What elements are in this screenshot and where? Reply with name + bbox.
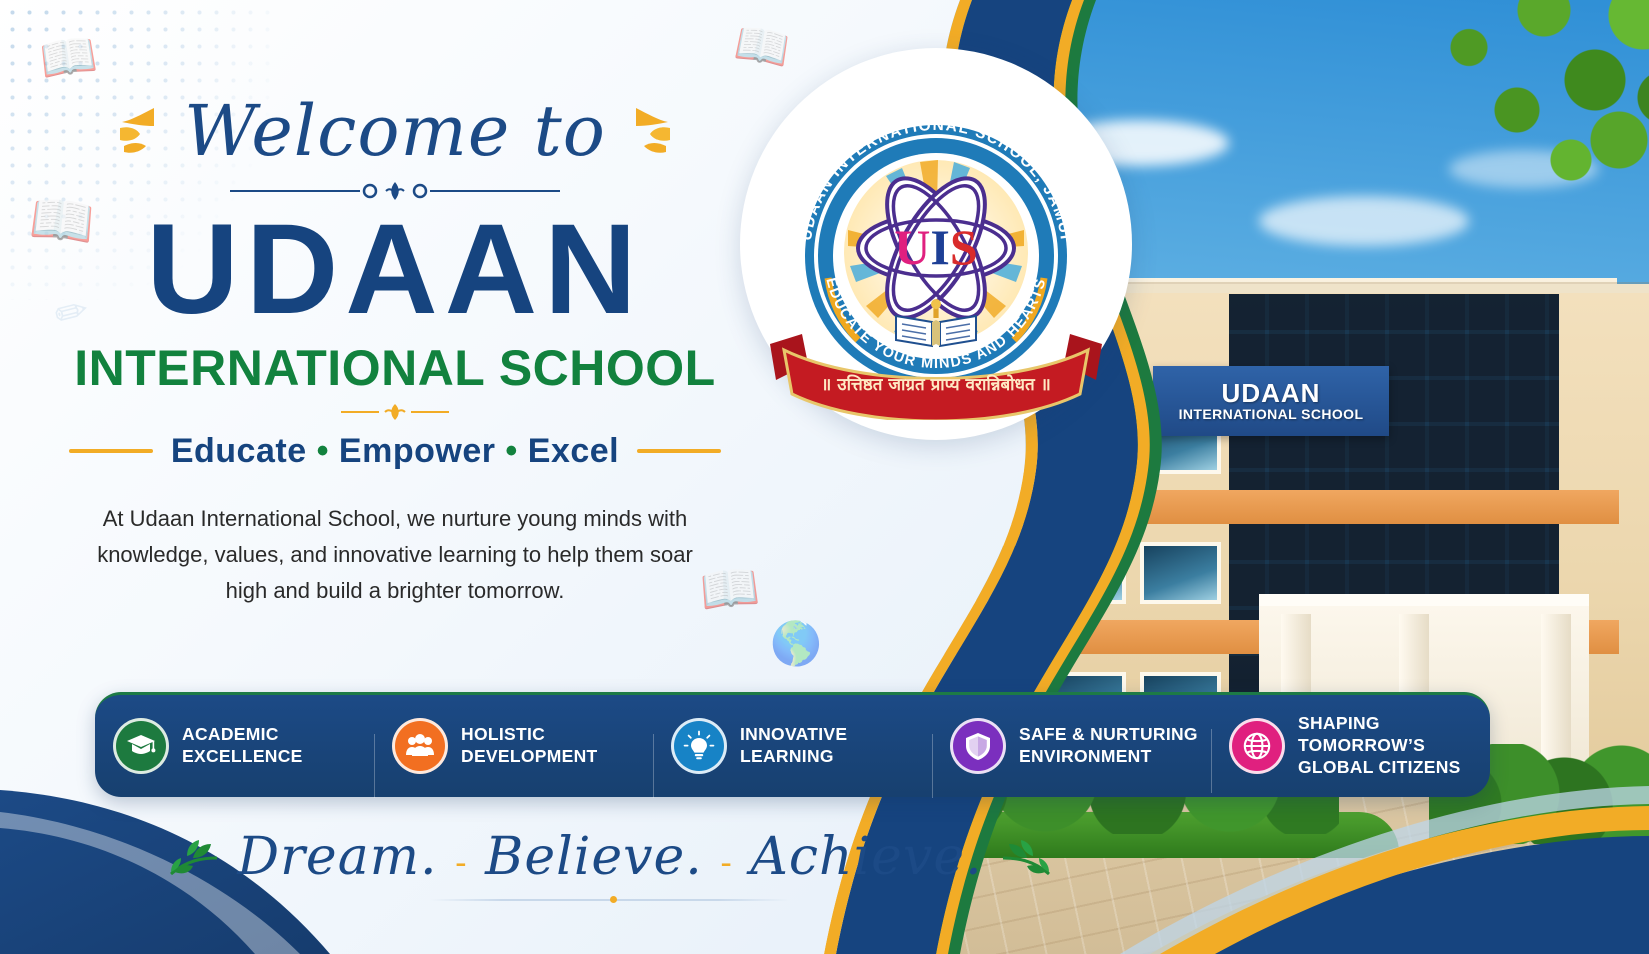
- building-signboard: UDAAN INTERNATIONAL SCHOOL: [1153, 366, 1389, 436]
- welcome-row: Welcome to: [60, 96, 730, 166]
- welcome-text: Welcome to: [184, 96, 606, 166]
- feature-label-line1: SAFE & NURTURING: [1019, 724, 1198, 746]
- orange-splash-left-icon: [114, 102, 158, 160]
- tagline-row: Educate • Empower • Excel: [60, 432, 730, 471]
- feature-label: ACADEMIC EXCELLENCE: [182, 724, 303, 768]
- tagline-dash-right: [637, 449, 721, 453]
- facade-band: [929, 490, 1619, 524]
- feature-label-line1: INNOVATIVE: [740, 724, 847, 746]
- tagline-separator-2: •: [505, 432, 517, 470]
- graduation-cap-icon: [113, 718, 169, 774]
- feature-label-line1: SHAPING TOMORROW’S: [1298, 713, 1480, 757]
- feature-academic-excellence[interactable]: ACADEMIC EXCELLENCE: [95, 718, 374, 774]
- tagline-dash-left: [69, 449, 153, 453]
- globe-icon: [1229, 718, 1285, 774]
- people-group-icon: [392, 718, 448, 774]
- feature-holistic-development[interactable]: HOLISTIC DEVELOPMENT: [374, 718, 653, 774]
- school-name-primary: UDAAN: [60, 209, 730, 331]
- crest-ribbon-text: ॥ उत्तिष्ठत जाग्रत प्राप्य वरान्निबोधत ॥: [821, 374, 1051, 395]
- feature-label-line2: ENVIRONMENT: [1019, 746, 1198, 768]
- feature-label-line2: EXCELLENCE: [182, 746, 303, 768]
- shield-icon: [950, 718, 1006, 774]
- orange-splash-right-icon: [632, 102, 676, 160]
- small-ornament: [335, 403, 455, 421]
- window-row: [951, 542, 1221, 604]
- feature-label: HOLISTIC DEVELOPMENT: [461, 724, 598, 768]
- tagline-separator-1: •: [317, 432, 329, 470]
- tagline-word-1: Educate: [171, 432, 307, 470]
- leaf-ornament-right-icon: [999, 834, 1055, 880]
- footer-dot: [610, 896, 617, 903]
- feature-label-line1: HOLISTIC: [461, 724, 598, 746]
- feature-label: SHAPING TOMORROW’S GLOBAL CITIZENS: [1298, 713, 1480, 779]
- feature-safe-nurturing-environment[interactable]: SAFE & NURTURING ENVIRONMENT: [932, 718, 1211, 774]
- footer-motto-row: Dream. - Believe. - Achieve.: [0, 812, 1220, 902]
- feature-badge-bar: ACADEMIC EXCELLENCE HOLISTIC DEVELOPMENT: [95, 692, 1490, 797]
- feature-innovative-learning[interactable]: INNOVATIVE LEARNING: [653, 718, 932, 774]
- motto-dash-1: -: [455, 843, 468, 883]
- school-crest-logo: UDAAN INTERNATIONAL SCHOOL, JAMUI EDUCAT…: [762, 72, 1110, 420]
- footer-motto-text: Dream. - Believe. - Achieve.: [237, 827, 982, 887]
- feature-label: INNOVATIVE LEARNING: [740, 724, 847, 768]
- tree-foliage: [1379, 0, 1649, 210]
- feature-label: SAFE & NURTURING ENVIRONMENT: [1019, 724, 1198, 768]
- tagline-text: Educate • Empower • Excel: [171, 432, 619, 471]
- description-paragraph: At Udaan International School, we nurtur…: [95, 501, 695, 610]
- crest-monogram: UIS: [894, 219, 977, 275]
- motto-word-3: Achieve.: [750, 827, 982, 887]
- signboard-line-1: UDAAN: [1222, 380, 1321, 407]
- motto-word-2: Believe.: [485, 827, 703, 887]
- leaf-ornament-left-icon: [165, 834, 221, 880]
- signboard-line-2: INTERNATIONAL SCHOOL: [1179, 407, 1364, 422]
- school-name-secondary: INTERNATIONAL SCHOOL: [60, 339, 730, 397]
- feature-label-line2: LEARNING: [740, 746, 847, 768]
- feature-label-line1: ACADEMIC: [182, 724, 303, 746]
- motto-word-1: Dream.: [237, 827, 437, 887]
- school-welcome-banner: UDAAN INTERNATIONAL SCHOOL: [0, 0, 1649, 954]
- feature-label-line2: GLOBAL CITIZENS: [1298, 757, 1480, 779]
- headline-content-block: Welcome to UDAAN INTERNATIONAL SCHOOL: [0, 0, 790, 680]
- tagline-word-2: Empower: [339, 432, 496, 470]
- lightbulb-icon: [671, 718, 727, 774]
- feature-global-citizens[interactable]: SHAPING TOMORROW’S GLOBAL CITIZENS: [1211, 713, 1490, 779]
- feature-label-line2: DEVELOPMENT: [461, 746, 598, 768]
- motto-dash-2: -: [720, 843, 733, 883]
- tagline-word-3: Excel: [528, 432, 619, 470]
